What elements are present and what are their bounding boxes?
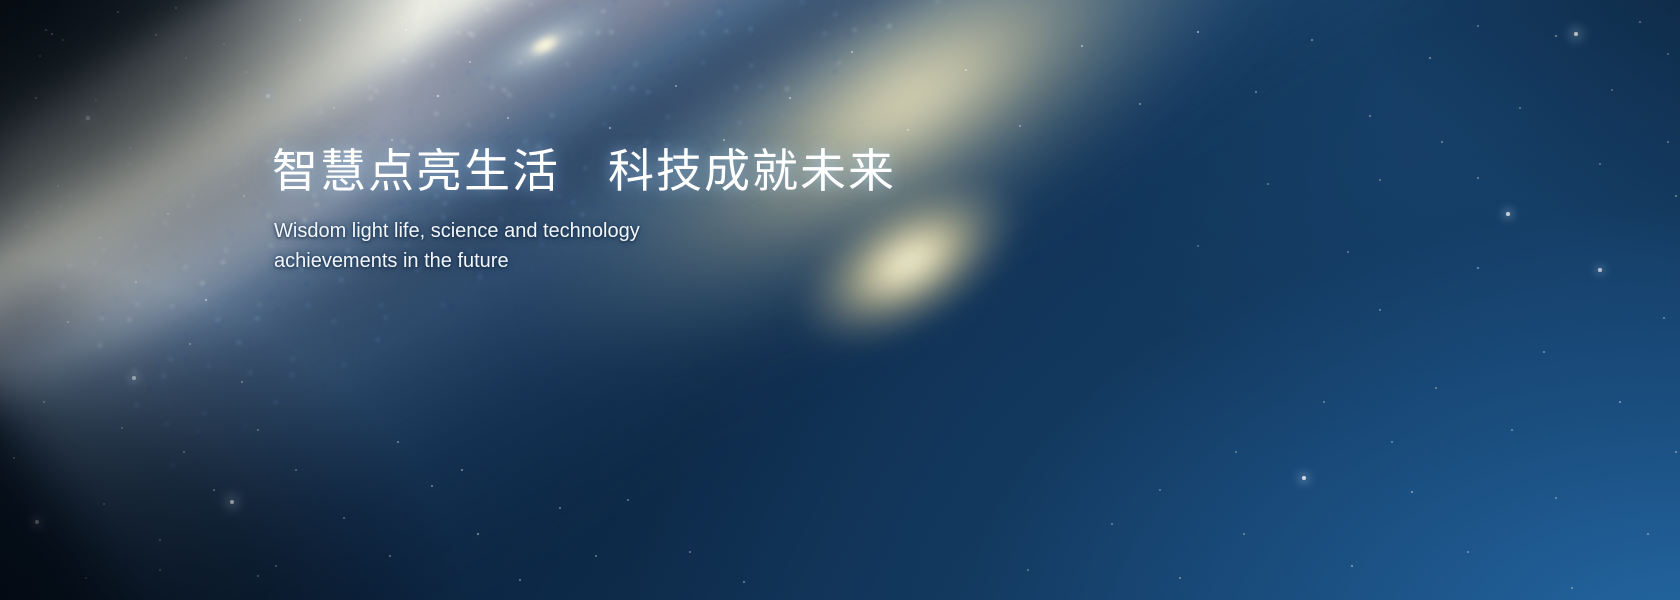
spiral-galaxy xyxy=(0,0,1680,600)
star xyxy=(1267,183,1269,185)
star xyxy=(275,565,277,567)
star xyxy=(1019,125,1021,127)
star xyxy=(155,34,157,36)
star xyxy=(299,19,301,21)
star xyxy=(1663,317,1665,319)
star xyxy=(129,147,131,149)
star xyxy=(1159,489,1161,491)
star xyxy=(39,55,41,57)
star xyxy=(461,469,463,471)
star xyxy=(99,237,101,239)
hero-banner: 智慧点亮生活 科技成就未来 Wisdom light life, science… xyxy=(0,0,1680,600)
star xyxy=(257,575,259,577)
star xyxy=(117,11,119,13)
star xyxy=(132,376,136,380)
star xyxy=(1323,401,1325,403)
star xyxy=(35,520,39,524)
star xyxy=(1255,91,1257,93)
star xyxy=(35,97,38,100)
star xyxy=(241,381,243,383)
star xyxy=(51,33,54,36)
star xyxy=(207,121,209,123)
star xyxy=(595,555,597,557)
space-background xyxy=(0,0,1680,600)
star xyxy=(907,129,909,131)
star xyxy=(13,457,15,459)
star xyxy=(1511,429,1513,431)
star xyxy=(135,281,137,283)
star xyxy=(1477,25,1479,27)
star xyxy=(62,39,64,41)
star xyxy=(295,469,297,471)
star xyxy=(789,97,792,100)
star xyxy=(431,485,433,487)
star xyxy=(167,213,170,216)
companion-galaxy xyxy=(429,0,661,131)
star xyxy=(95,99,97,101)
star xyxy=(1235,451,1237,453)
star xyxy=(266,94,271,99)
star xyxy=(85,577,87,579)
star xyxy=(1441,141,1443,143)
star xyxy=(121,427,123,429)
star xyxy=(477,533,479,535)
star xyxy=(1675,451,1677,453)
star xyxy=(1411,491,1413,493)
star xyxy=(389,555,391,557)
star xyxy=(223,43,225,45)
star xyxy=(675,85,677,87)
star xyxy=(1675,195,1677,197)
star xyxy=(1391,441,1393,443)
star xyxy=(507,117,509,119)
star xyxy=(1379,309,1381,311)
star xyxy=(1139,103,1141,105)
star xyxy=(1311,39,1313,41)
galaxy-halo xyxy=(0,0,1680,600)
star xyxy=(43,401,45,403)
star xyxy=(243,195,245,197)
star xyxy=(245,71,247,73)
starfield xyxy=(0,0,1680,600)
star xyxy=(1379,179,1381,181)
star xyxy=(609,127,611,129)
star xyxy=(189,343,191,345)
star xyxy=(743,581,745,583)
star xyxy=(1477,267,1479,269)
star xyxy=(965,69,967,71)
star xyxy=(175,7,177,9)
star xyxy=(86,116,89,119)
star xyxy=(257,429,259,431)
star xyxy=(230,500,235,505)
star xyxy=(67,321,69,323)
star xyxy=(1555,497,1557,499)
star xyxy=(1619,401,1621,403)
banner-subtitle: Wisdom light life, science and technolog… xyxy=(274,216,674,276)
star xyxy=(151,165,153,167)
star xyxy=(437,95,440,98)
star xyxy=(1647,533,1649,535)
star xyxy=(1574,32,1578,36)
star xyxy=(1477,177,1479,179)
star xyxy=(1351,565,1353,567)
star xyxy=(351,47,353,49)
star xyxy=(333,107,335,109)
star xyxy=(1197,245,1199,247)
star xyxy=(1369,115,1371,117)
star xyxy=(159,569,161,571)
star xyxy=(689,551,691,553)
star xyxy=(213,489,215,491)
banner-headline: 智慧点亮生活 科技成就未来 xyxy=(272,140,1032,202)
star xyxy=(1543,351,1545,353)
star xyxy=(1506,212,1510,216)
star xyxy=(185,57,187,59)
star xyxy=(1599,163,1601,165)
star xyxy=(1243,533,1245,535)
star xyxy=(343,517,345,519)
star xyxy=(1667,53,1669,55)
star xyxy=(405,29,407,31)
star xyxy=(1667,141,1669,143)
star xyxy=(851,51,853,53)
star xyxy=(1611,89,1613,91)
star xyxy=(1081,45,1084,48)
banner-text-block: 智慧点亮生活 科技成就未来 Wisdom light life, science… xyxy=(272,140,1032,276)
star xyxy=(57,185,59,187)
star xyxy=(1639,21,1641,23)
star xyxy=(519,579,521,581)
star xyxy=(1197,31,1200,34)
star xyxy=(1467,551,1469,553)
star xyxy=(627,499,629,501)
star xyxy=(1179,577,1181,579)
star xyxy=(559,507,561,509)
star xyxy=(159,539,161,541)
star xyxy=(183,451,185,453)
star xyxy=(1347,251,1349,253)
star xyxy=(1027,569,1029,571)
galaxy-lower-disk xyxy=(0,0,1680,600)
star xyxy=(1555,35,1557,37)
star xyxy=(397,441,399,443)
star xyxy=(1302,476,1306,480)
star xyxy=(1111,523,1113,525)
star xyxy=(1519,107,1521,109)
star xyxy=(1571,587,1573,589)
vignette-overlay xyxy=(0,0,1680,600)
star xyxy=(205,299,208,302)
star xyxy=(1435,387,1437,389)
star xyxy=(1598,268,1601,271)
star xyxy=(45,29,47,31)
star xyxy=(1429,57,1431,59)
star xyxy=(103,503,105,505)
